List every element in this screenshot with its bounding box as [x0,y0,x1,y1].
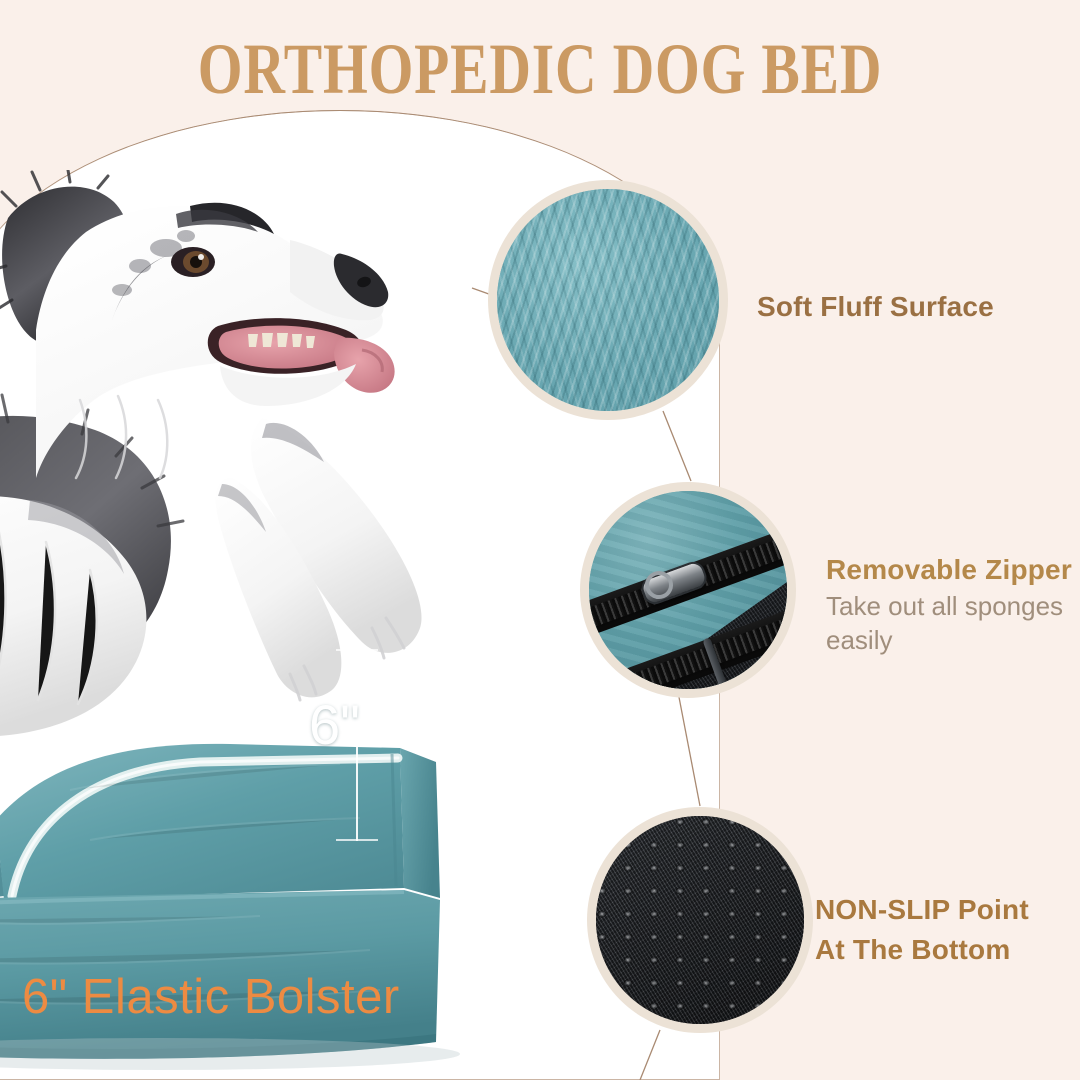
callout-title-nonslip-line1: NON-SLIP Point [815,890,1029,930]
callout-title-fluff: Soft Fluff Surface [757,288,994,326]
callout-title-zipper: Removable Zipper [826,551,1072,589]
zipper-swatch [589,491,787,689]
page-title: ORTHOPEDIC DOG BED [108,28,972,110]
bolster-caption: 6" Elastic Bolster [22,968,400,1026]
fluff-swatch [497,189,719,411]
dog-head [0,170,410,480]
callout-label-zipper: Removable Zipper Take out all sponges ea… [826,551,1072,657]
callout-label-nonslip: NON-SLIP Point At The Bottom [815,890,1029,970]
measure-cap-bottom [336,839,378,841]
callout-circle-nonslip[interactable] [587,807,813,1033]
fluff-texture [497,189,719,411]
callout-circle-fluff[interactable] [488,180,728,420]
dog-eye [171,247,215,277]
nonslip-texture [596,816,804,1024]
callout-label-fluff: Soft Fluff Surface [757,288,994,326]
callout-title-nonslip-line2: At The Bottom [815,930,1029,970]
infographic-canvas: ORTHOPEDIC DOG BED [0,0,1080,1080]
measure-label: 6" [296,697,360,753]
callout-subtitle-zipper: Take out all sponges easily [826,589,1072,657]
height-measurement: 6" [300,645,430,845]
callout-circle-zipper[interactable] [580,482,796,698]
nonslip-swatch [596,816,804,1024]
